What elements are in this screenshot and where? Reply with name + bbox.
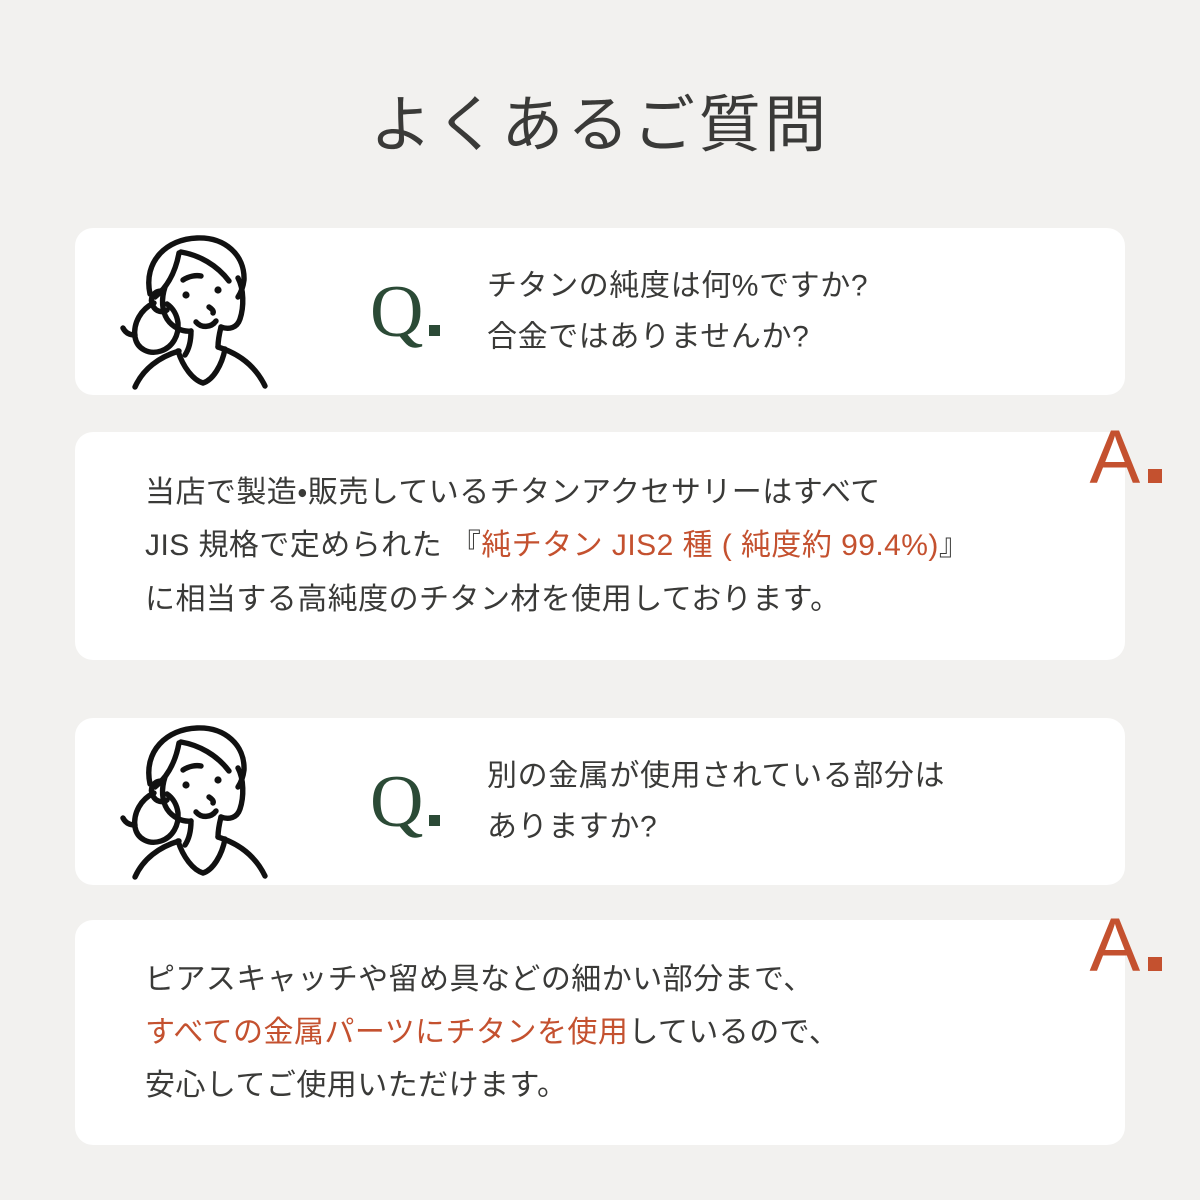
- answer-segment: 当店で製造・販売しているチタンアクセサリーはすべて: [145, 476, 881, 509]
- answer-segment: ピアスキャッチや留め具などの細かい部分まで、: [145, 962, 814, 995]
- page-title: よくあるご質問: [0, 92, 1200, 160]
- question-text-2: 別の金属が使用されている部分は ありますか?: [487, 750, 945, 853]
- question-card-2: Q 別の金属が使用されている部分は ありますか?: [75, 718, 1125, 885]
- answer-line: JIS 規格で定められた 『純チタン JIS2 種 ( 純度約 99.4%)』: [145, 519, 969, 572]
- answer-highlight: すべての金属パーツにチタンを使用: [145, 1016, 628, 1049]
- answer-card-2: ピアスキャッチや留め具などの細かい部分まで、すべての金属パーツにチタンを使用して…: [75, 920, 1125, 1145]
- answer-text-1: 当店で製造・販売しているチタンアクセサリーはすべてJIS 規格で定められた 『純…: [145, 466, 969, 626]
- question-text-1: チタンの純度は何%ですか? 合金ではありませんか?: [487, 260, 868, 363]
- answer-mark-label-2: A: [1090, 908, 1162, 984]
- question-mark-label-1: Q: [370, 275, 440, 349]
- answer-text-2: ピアスキャッチや留め具などの細かい部分まで、すべての金属パーツにチタンを使用して…: [145, 952, 839, 1112]
- question-mark-dot: [429, 325, 440, 336]
- woman-ponytail-illustration-icon: [117, 231, 285, 393]
- question-card-1: Q チタンの純度は何%ですか? 合金ではありませんか?: [75, 228, 1125, 395]
- answer-highlight: 純チタン JIS2 種 ( 純度約 99.4%): [481, 529, 939, 562]
- answer-segment: に相当する高純度のチタン材を使用しております。: [145, 583, 841, 616]
- answer-segment: 安心してご使用いただけます。: [145, 1069, 567, 1102]
- question-line: 合金ではありませんか?: [487, 312, 868, 364]
- question-mark-label-2: Q: [370, 765, 440, 839]
- answer-line: に相当する高純度のチタン材を使用しております。: [145, 573, 969, 626]
- answer-line: 安心してご使用いただけます。: [145, 1059, 839, 1112]
- answer-mark-dot: [1148, 469, 1162, 483]
- question-line: チタンの純度は何%ですか?: [487, 260, 868, 312]
- faq-page: よくあるご質問: [0, 0, 1200, 1200]
- answer-mark-label-1: A: [1090, 420, 1162, 496]
- question-line: ありますか?: [487, 802, 945, 854]
- answer-card-1: 当店で製造・販売しているチタンアクセサリーはすべてJIS 規格で定められた 『純…: [75, 432, 1125, 660]
- answer-mark-dot: [1148, 957, 1162, 971]
- answer-segment: しているので、: [628, 1016, 839, 1049]
- woman-ponytail-illustration-icon: [117, 721, 285, 883]
- question-line: 別の金属が使用されている部分は: [487, 750, 945, 802]
- answer-segment: 』: [939, 529, 969, 562]
- answer-line: ピアスキャッチや留め具などの細かい部分まで、: [145, 952, 839, 1005]
- answer-line: すべての金属パーツにチタンを使用しているので、: [145, 1006, 839, 1059]
- answer-line: 当店で製造・販売しているチタンアクセサリーはすべて: [145, 466, 969, 519]
- answer-segment: JIS 規格で定められた 『: [145, 529, 481, 562]
- question-mark-dot: [429, 815, 440, 826]
